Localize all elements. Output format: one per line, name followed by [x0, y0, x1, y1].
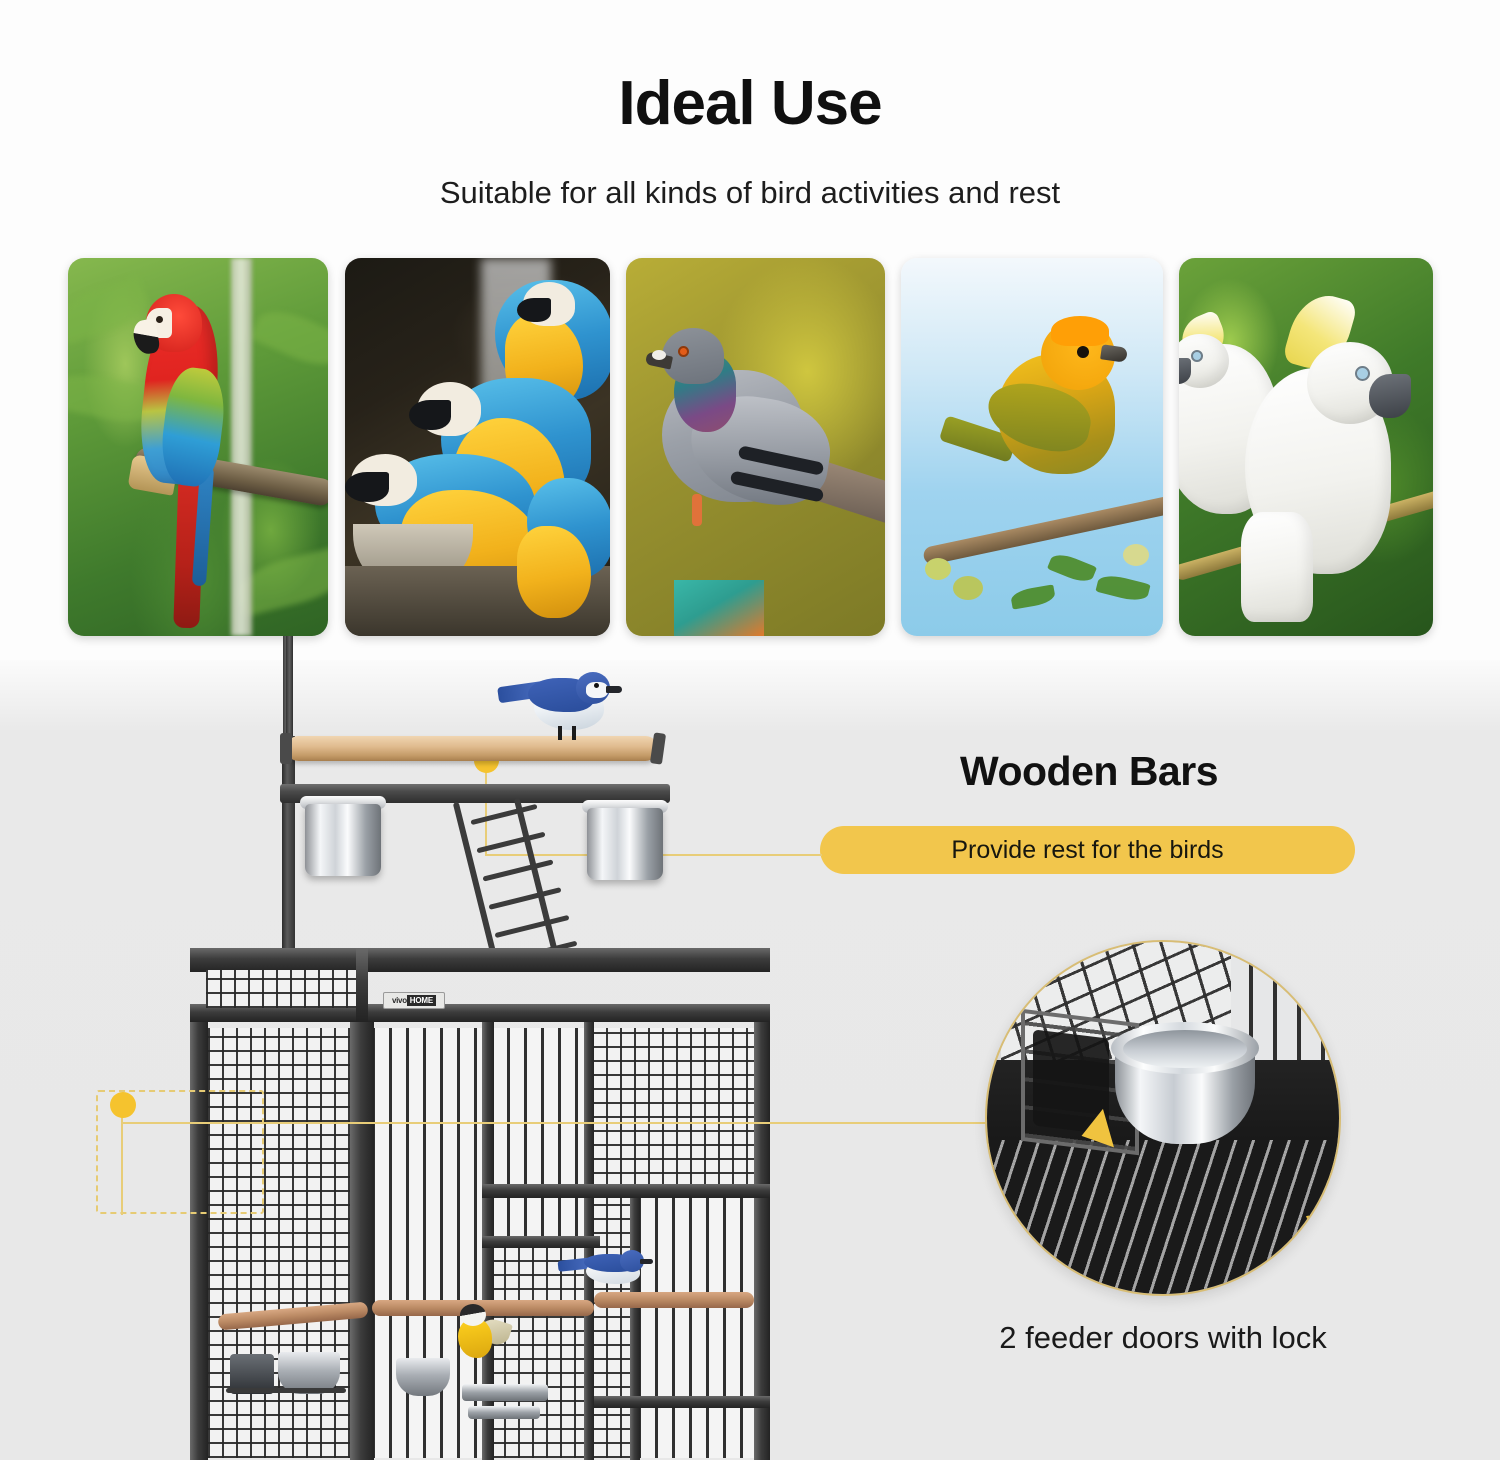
feeder-leader-line: [121, 1122, 989, 1124]
cage-door-latch-2: [468, 1406, 540, 1419]
wooden-bars-title: Wooden Bars: [960, 748, 1218, 795]
stainless-cup-left: [305, 804, 381, 876]
photo-scarlet-macaw: [68, 258, 328, 636]
page-subtitle: Suitable for all kinds of bird activitie…: [0, 175, 1500, 211]
cage-play-top: [190, 700, 770, 960]
wooden-bars-pill: Provide rest for the birds: [820, 826, 1355, 874]
photo-saffron-finch: [901, 258, 1163, 636]
yellow-bird-in-cage: [448, 1304, 504, 1362]
photo-blue-gold-macaws: [345, 258, 610, 636]
brand-suffix: HOME: [407, 995, 436, 1006]
feeder-door-left: [226, 1344, 354, 1420]
feeder-doors-caption: 2 feeder doors with lock: [955, 1320, 1371, 1356]
product-infographic: Ideal Use Suitable for all kinds of bird…: [0, 0, 1500, 1460]
feeder-marker-dot: [110, 1092, 136, 1118]
bird-cage-illustration: vivo HOME: [190, 700, 770, 1460]
brand-logo-plate: vivo HOME: [383, 992, 445, 1009]
cage-body: vivo HOME: [190, 948, 770, 1460]
feeder-door-detail-circle: [985, 940, 1341, 1296]
page-title: Ideal Use: [0, 72, 1500, 135]
cage-ladder: [472, 800, 622, 960]
inner-perch-right: [594, 1292, 754, 1308]
photo-cockatoos: [1179, 258, 1433, 636]
blue-jay-in-cage: [558, 1248, 668, 1292]
brand-prefix: vivo: [392, 996, 407, 1005]
bird-photo-gallery: [68, 258, 1433, 636]
blue-jay-on-perch: [500, 670, 632, 746]
photo-rock-pigeon: [626, 258, 885, 636]
